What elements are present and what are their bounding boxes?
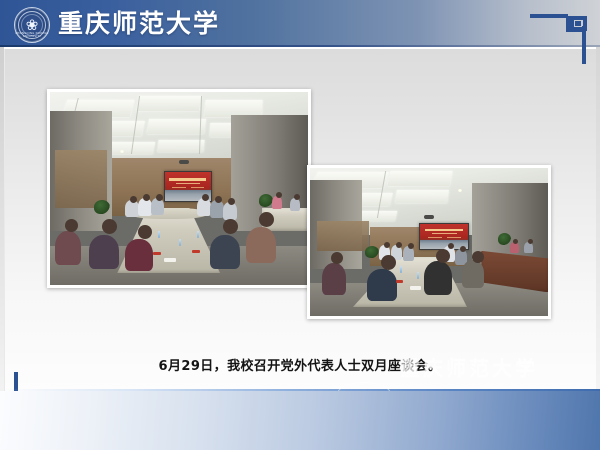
attendee-foreground [210, 235, 240, 269]
footer-band [0, 391, 600, 450]
attendee-head [102, 219, 117, 234]
screen-title-line [169, 178, 206, 180]
plant [365, 246, 379, 258]
left-wall-wood-panel [317, 221, 369, 251]
document [410, 286, 421, 290]
corner-bracket-icon-top-right [528, 8, 592, 66]
seal-ring-text: CHONGQING NORMAL UNIVERSITY [15, 32, 49, 38]
attendee-head [396, 242, 402, 248]
water-bottle [197, 231, 199, 238]
name-card [153, 252, 161, 255]
attendee-foreground [246, 227, 276, 263]
attendee-head [472, 251, 484, 263]
downlight [458, 189, 462, 192]
attendee-head [384, 242, 390, 248]
canvas-right-edge [596, 47, 600, 391]
canvas-left-edge [0, 47, 4, 391]
downlight [120, 150, 124, 153]
attendee-foreground [55, 231, 81, 265]
screen-title-line [425, 229, 463, 231]
water-bottle [417, 272, 419, 279]
plant [259, 194, 273, 207]
attendee-foreground [424, 261, 452, 295]
meeting-photo-angle-image [310, 168, 548, 316]
ceiling-panel [395, 190, 449, 203]
university-name: 重庆师范大学 [58, 4, 220, 44]
water-bottle [179, 239, 181, 246]
plant [498, 233, 511, 245]
attendee-head [259, 212, 274, 227]
name-card [192, 250, 200, 253]
screen-text-line [172, 187, 186, 188]
attendee-foreground [462, 260, 484, 288]
projector [179, 160, 189, 164]
attendee-head [528, 239, 533, 244]
ceiling-panel [387, 171, 452, 186]
meeting-photo-wide-image [50, 92, 308, 285]
attendee-foreground [89, 235, 119, 269]
attendee-foreground [322, 263, 346, 295]
left-wall-wood-panel [55, 150, 107, 208]
attendee-foreground [367, 269, 397, 301]
footer-watermark-text: 重庆师范大学 [400, 352, 590, 388]
header-bar: ❀ CHONGQING NORMAL UNIVERSITY 重庆师范大学 [0, 0, 600, 47]
attendee-head [223, 219, 238, 234]
attendee [272, 196, 282, 209]
screen-text-line [428, 237, 442, 238]
ceiling-panel [147, 119, 206, 134]
attendee-head [138, 225, 152, 239]
document [164, 258, 176, 262]
screen-subtitle-line [432, 233, 457, 234]
screen-text-line [447, 237, 461, 238]
attendee [290, 198, 300, 211]
slide-root: ❀ CHONGQING NORMAL UNIVERSITY 重庆师范大学 [0, 0, 600, 450]
plant [94, 200, 110, 214]
university-seal-icon: ❀ CHONGQING NORMAL UNIVERSITY [14, 7, 50, 43]
meeting-photo-angle[interactable] [307, 165, 551, 319]
attendee-head [156, 194, 163, 201]
projector [424, 215, 434, 219]
screen-subtitle-line [176, 183, 200, 184]
ceiling-panel [136, 96, 201, 111]
meeting-photo-wide[interactable] [47, 89, 311, 288]
screen-text-line [191, 187, 205, 188]
attendee-foreground [125, 239, 153, 271]
